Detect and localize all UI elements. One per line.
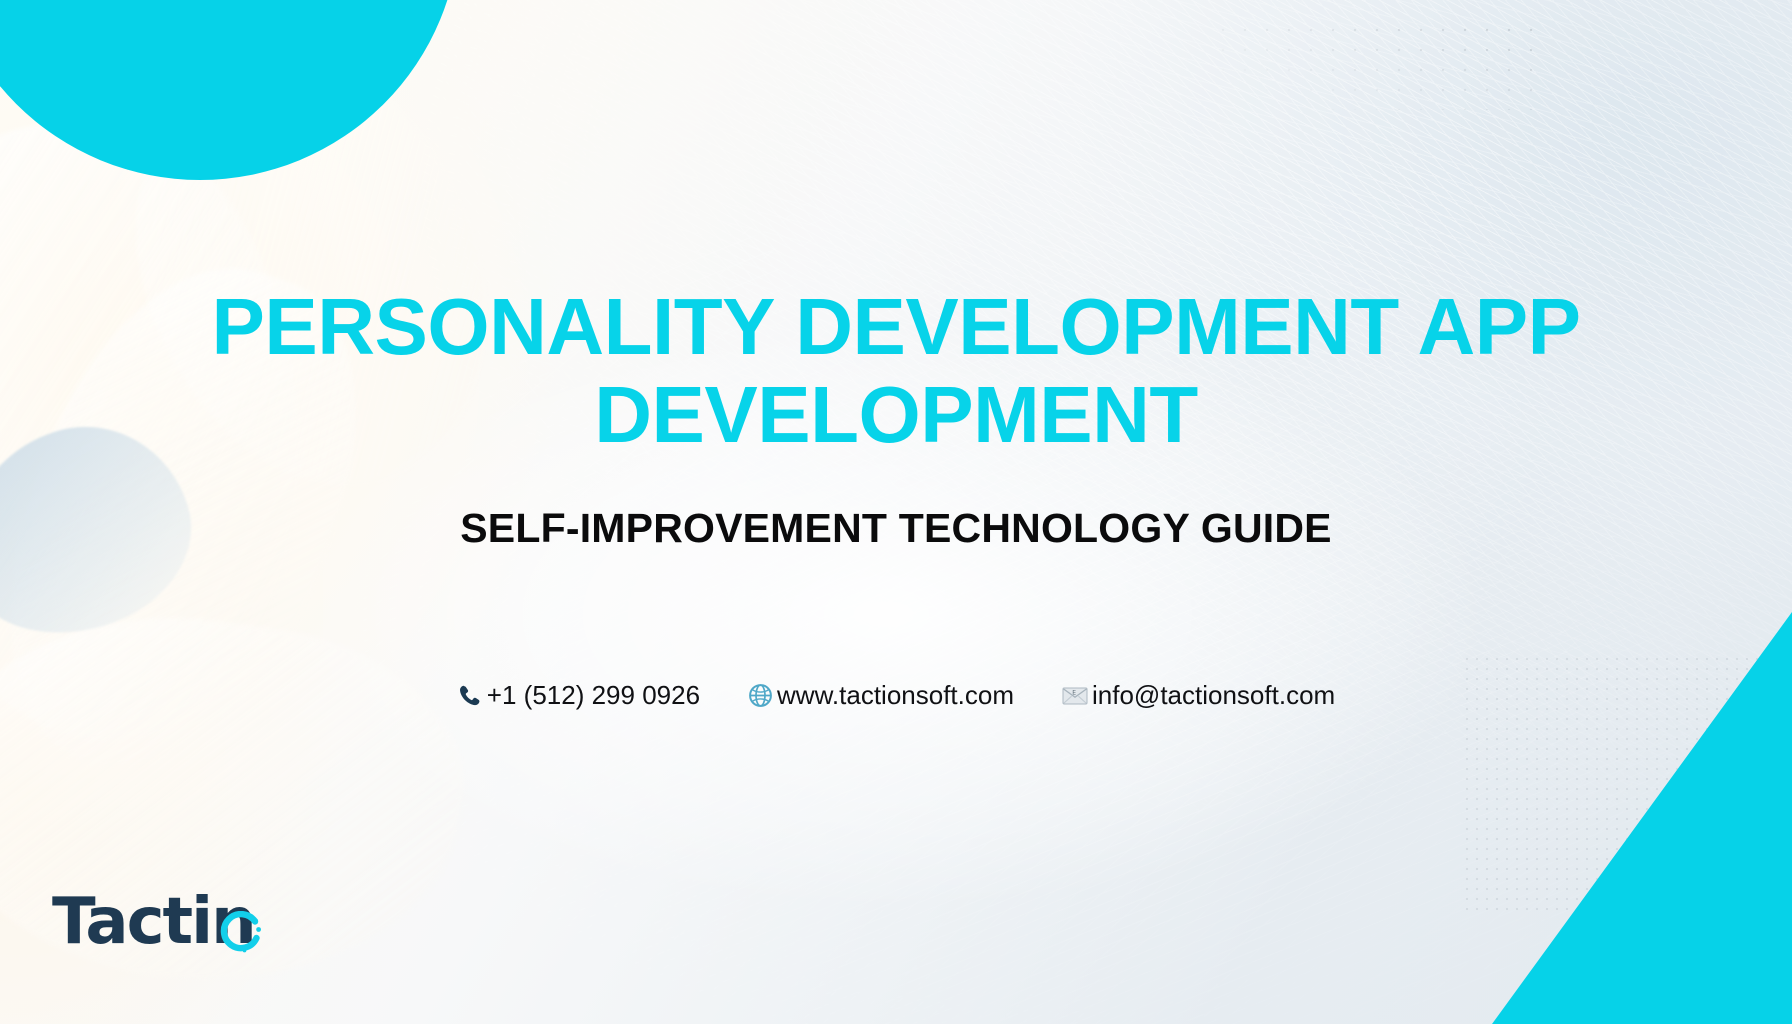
contact-website-label: www.tactionsoft.com bbox=[777, 680, 1014, 711]
page-title-line-1: PERSONALITY DEVELOPMENT APP bbox=[150, 288, 1642, 366]
circular-swoosh-icon bbox=[219, 911, 263, 955]
banner-canvas: PERSONALITY DEVELOPMENT APP DEVELOPMENT … bbox=[0, 0, 1792, 1024]
logo-mark: Tactin bbox=[52, 890, 255, 954]
contact-phone[interactable]: +1 (512) 299 0926 bbox=[457, 680, 700, 711]
page-subtitle: SELF-IMPROVEMENT TECHNOLOGY GUIDE bbox=[0, 505, 1792, 552]
contact-email[interactable]: E info@tactionsoft.com bbox=[1062, 680, 1335, 711]
envelope-icon: E bbox=[1062, 686, 1088, 706]
logo-text-before: Tacti bbox=[52, 885, 211, 959]
contact-bar: +1 (512) 299 0926 www.tactionsoft.com bbox=[0, 680, 1792, 711]
globe-icon bbox=[748, 683, 773, 708]
contact-website[interactable]: www.tactionsoft.com bbox=[748, 680, 1014, 711]
background-dot-pattern bbox=[1212, 20, 1542, 110]
phone-icon bbox=[457, 683, 483, 709]
page-title-line-2: DEVELOPMENT bbox=[150, 376, 1642, 454]
contact-phone-label: +1 (512) 299 0926 bbox=[487, 680, 700, 711]
contact-email-label: info@tactionsoft.com bbox=[1092, 680, 1335, 711]
page-title: PERSONALITY DEVELOPMENT APP DEVELOPMENT bbox=[0, 288, 1792, 455]
svg-text:E: E bbox=[1072, 689, 1076, 696]
brand-logo[interactable]: Tactin bbox=[52, 890, 255, 954]
